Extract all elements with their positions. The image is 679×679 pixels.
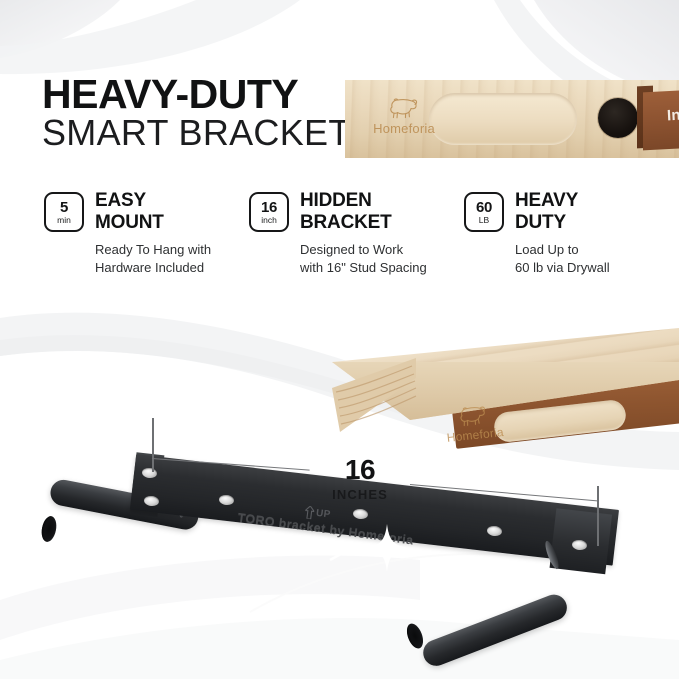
badge-number: 16 [261,200,277,215]
feature-text: HIDDEN BRACKET Designed to Work with 16"… [300,190,427,276]
feature-subtext: Load Up to 60 lb via Drywall [515,241,610,275]
wood-shelf: Homeforia [318,328,679,453]
hero-section: HEAVY-DUTY SMART BRACKET Installa [0,0,679,172]
feature-heading: HIDDEN BRACKET [300,190,427,234]
badge-number: 5 [60,200,68,215]
dimension-value: 16 [312,456,408,484]
feature-subtext: Ready To Hang with Hardware Included [95,241,211,275]
bracket-rod-right-cap [404,621,426,650]
shelf-routed-channel [493,399,628,444]
up-arrow-icon [304,505,315,519]
page-title: HEAVY-DUTY SMART BRACKET [42,74,351,153]
feature-text: HEAVY DUTY Load Up to 60 lb via Drywall [515,190,610,276]
routed-slot [429,93,577,145]
feature-text: EASY MOUNT Ready To Hang with Hardware I… [95,190,211,276]
up-marker-label: UP [315,508,331,521]
feature-hidden-bracket: 16 inch HIDDEN BRACKET Designed to Work … [249,190,427,276]
dimension-unit: INCHES [312,487,408,502]
bracket-rod-left-cap [40,515,59,543]
feature-easy-mount: 5 min EASY MOUNT Ready To Hang with Hard… [44,190,211,276]
product-infographic: HEAVY-DUTY SMART BRACKET Installa [0,0,679,679]
feature-heading: HEAVY DUTY [515,190,610,234]
dimension-tick-right [597,486,599,546]
product-scene: Installation hardware [0,300,679,679]
brand-mark-shelf: Homeforia [436,400,512,445]
bison-logo-icon [456,402,490,428]
feature-subtext: Designed to Work with 16" Stud Spacing [300,241,427,275]
title-line-1: HEAVY-DUTY [42,74,351,114]
badge-icon-weight: 60 LB [464,192,504,232]
title-line-2: SMART BRACKET [42,114,351,153]
feature-heavy-duty: 60 LB HEAVY DUTY Load Up to 60 lb via Dr… [464,190,610,276]
badge-icon-time: 5 min [44,192,84,232]
shelf-end-grain [326,358,422,438]
bracket-rod-right [419,591,570,670]
product-photo-top: Installa Homeforia [345,80,679,158]
brand-name-top: Homeforia [371,121,437,136]
hardware-box-label: Installa [667,105,679,125]
feature-heading: EASY MOUNT [95,190,211,234]
brand-mark-top: Homeforia [371,96,437,136]
badge-number: 60 [476,200,492,215]
feature-badges-row: 5 min EASY MOUNT Ready To Hang with Hard… [0,190,679,300]
brand-name-shelf: Homeforia [439,424,512,445]
dimension-label: 16 INCHES [312,456,408,502]
bison-logo-icon [387,96,421,120]
dimension-tick-left [152,418,154,472]
mounting-hole [598,98,638,138]
badge-icon-size: 16 inch [249,192,289,232]
badge-unit: LB [479,216,489,225]
badge-unit: min [57,216,71,225]
badge-unit: inch [261,216,277,225]
